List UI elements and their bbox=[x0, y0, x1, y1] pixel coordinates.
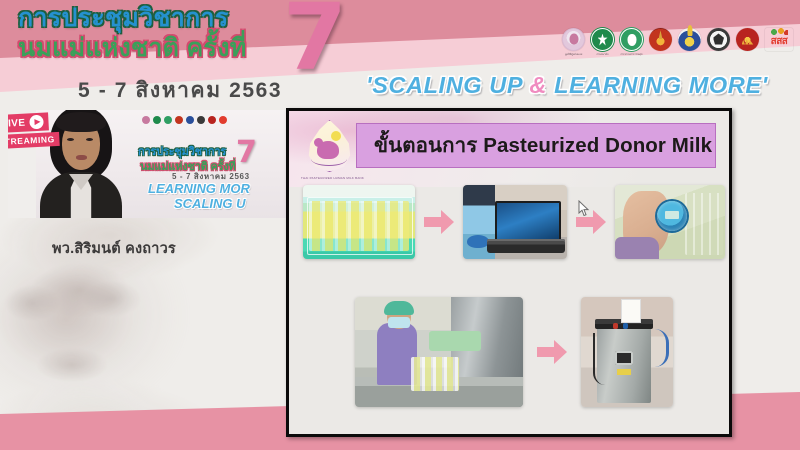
poster-logo-1 bbox=[142, 116, 150, 124]
mouse-pointer bbox=[578, 200, 590, 218]
slide-title-banner: ขั้นตอนการ Pasteurized Donor Milk bbox=[356, 123, 716, 168]
royal-college-logo bbox=[649, 28, 672, 51]
poster-logo-7 bbox=[208, 116, 216, 124]
pasteurizer-power-cable bbox=[593, 333, 605, 385]
laptop-photo-mouse-object bbox=[467, 235, 489, 248]
ministry-public-health-logo: กรมอนามัย bbox=[591, 28, 614, 51]
probe-photo-lcd-display bbox=[665, 211, 679, 219]
pasteurizer-wall-sign bbox=[621, 299, 641, 323]
poster-logo-5 bbox=[186, 116, 194, 124]
ministry-public-health-logo-caption: กรมอนามัย bbox=[597, 53, 609, 57]
poster-logo-3 bbox=[164, 116, 172, 124]
photo-laptop-recording bbox=[463, 185, 567, 259]
poster-tagline-line2: SCALING U bbox=[174, 196, 246, 211]
arrow-right-icon bbox=[537, 339, 567, 365]
probe-photo-rack bbox=[685, 193, 723, 255]
tagline-part1: 'SCALING UP bbox=[366, 72, 529, 98]
poster-edition-number: 7 bbox=[236, 138, 257, 168]
process-row-top bbox=[303, 185, 725, 259]
conference-edition-number: 7 bbox=[283, 0, 347, 84]
drop-logo-caption: THAI PASTEURIZED HUMAN MILK BANK bbox=[301, 176, 359, 180]
probe-photo-cloth bbox=[615, 237, 659, 259]
pasteurizer-label-sticker bbox=[617, 369, 631, 375]
arrow-right-icon bbox=[424, 209, 454, 235]
tagline-part2: LEARNING MORE' bbox=[547, 72, 768, 98]
human-milk-bank-drop-logo: THAI PASTEURIZED HUMAN MILK BANK bbox=[301, 119, 359, 181]
speaker-eye-left bbox=[67, 138, 74, 141]
thaihealth-sss-logo bbox=[765, 28, 793, 51]
process-row-bottom bbox=[355, 297, 673, 407]
live-streaming-badge: LIVE STREAMING bbox=[8, 112, 51, 151]
poster-tagline-line1: LEARNING MOR bbox=[148, 181, 250, 196]
poster-logo-8 bbox=[219, 116, 227, 124]
pasteurizer-blue-knob bbox=[623, 323, 628, 329]
royal-patronage-logo: มูลนิธิศูนย์นมแม่ bbox=[562, 28, 585, 51]
speaker-eye-right bbox=[86, 138, 93, 141]
photo-milk-bottles-rack bbox=[303, 185, 415, 259]
presentation-slide[interactable]: THAI PASTEURIZED HUMAN MILK BANK ขั้นตอน… bbox=[286, 108, 732, 437]
live-video-panel[interactable]: การประชุมวิชาการ 7 นมแม่แห่งชาติ ครั้งที… bbox=[8, 110, 290, 218]
nurse-photo-surgical-cap bbox=[384, 301, 414, 315]
drop-yellow-bubble-large bbox=[331, 131, 341, 141]
conference-title-line1: การประชุมวิชาการ bbox=[18, 6, 229, 31]
royal-patronage-logo-caption: มูลนิธิศูนย์นมแม่ bbox=[565, 53, 582, 57]
video-frame[interactable]: การประชุมวิชาการ 7 นมแม่แห่งชาติ ครั้งที… bbox=[8, 110, 290, 218]
live-label: LIVE bbox=[8, 117, 26, 129]
drop-cradling-arms bbox=[311, 152, 347, 166]
pasteurizer-control-panel bbox=[615, 351, 633, 365]
photo-temperature-probe bbox=[615, 185, 725, 259]
medical-council-logo bbox=[736, 28, 759, 51]
drop-baby-head bbox=[314, 138, 323, 147]
pasteurizer-water-hose bbox=[655, 329, 669, 367]
play-icon bbox=[29, 115, 44, 130]
poster-org-logos bbox=[142, 116, 227, 124]
nurse-photo-milk-bottles bbox=[411, 357, 459, 391]
slide-title: ขั้นตอนการ Pasteurized Donor Milk bbox=[374, 129, 712, 162]
tagline-ampersand: & bbox=[529, 72, 547, 98]
screen-capture: การประชุมวิชาการ นมแม่แห่งชาติ ครั้งที่ … bbox=[0, 0, 800, 450]
health-department-logo-caption: กระทรวงสาธารณสุข bbox=[621, 53, 643, 57]
speaker-name-caption: พว.สิริมนต์ คงถาวร bbox=[52, 237, 176, 260]
speaker-fringe bbox=[56, 112, 106, 132]
poster-logo-2 bbox=[153, 116, 161, 124]
photo-pasteurizer-machine bbox=[581, 297, 673, 407]
live-badge-top-row: LIVE bbox=[8, 112, 49, 133]
conference-title-line2: นมแม่แห่งชาติ ครั้งที่ bbox=[18, 36, 247, 61]
conference-tagline: 'SCALING UP & LEARNING MORE' bbox=[366, 72, 768, 99]
pasteurizer-red-knob bbox=[613, 323, 618, 329]
conference-date: 5 - 7 สิงหาคม 2563 bbox=[78, 74, 282, 107]
speaker-mouth bbox=[76, 155, 87, 160]
thai-pediatric-society-logo bbox=[678, 28, 701, 51]
nurse-photo-green-tray bbox=[429, 331, 481, 351]
nursing-council-logo bbox=[707, 28, 730, 51]
poster-logo-6 bbox=[197, 116, 205, 124]
organization-logos: มูลนิธิศูนย์นมแม่ กรมอนามัย กระทรวงสาธาร… bbox=[562, 28, 793, 51]
poster-logo-4 bbox=[175, 116, 183, 124]
nurse-photo-face-mask bbox=[388, 317, 410, 328]
health-department-logo: กระทรวงสาธารณสุข bbox=[620, 28, 643, 51]
photo-nurse-loading-pasteurizer bbox=[355, 297, 523, 407]
